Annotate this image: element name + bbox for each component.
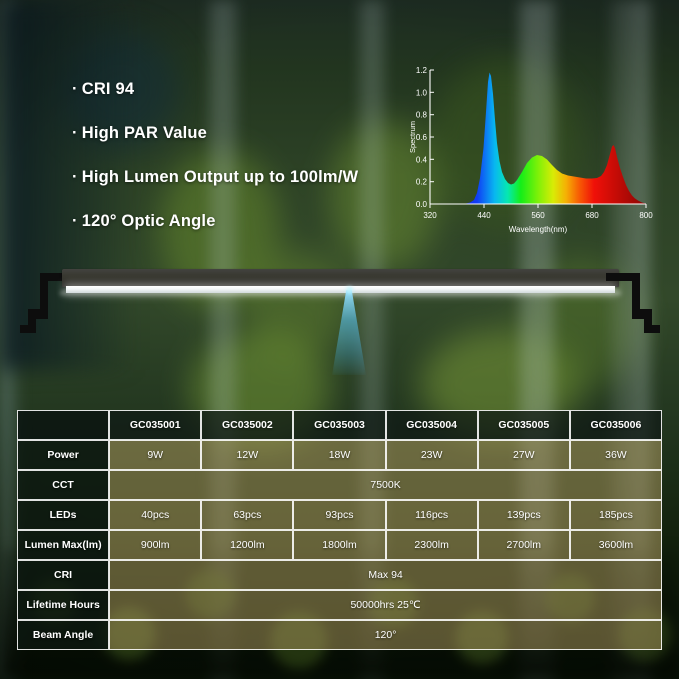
feature-list: ·CRI 94 ·High PAR Value ·High Lumen Outp…: [72, 80, 402, 256]
x-tick-label: 320: [423, 211, 437, 220]
row-label: CCT: [17, 470, 109, 500]
feature-item: ·High PAR Value: [72, 124, 402, 143]
row-label: Lumen Max(lm): [17, 530, 109, 560]
led-light-bar: [0, 255, 679, 365]
table-cell: 1200lm: [201, 530, 293, 560]
bullet-icon: ·: [72, 212, 78, 230]
spectrum-chart: 0.0 0.2 0.4 0.6 0.8 1.0 1.2 320 440 560: [404, 62, 654, 237]
table-cell: 139pcs: [478, 500, 570, 530]
row-label: Beam Angle: [17, 620, 109, 650]
table-header-cell: GC035005: [478, 410, 570, 440]
table-cell: 93pcs: [293, 500, 385, 530]
feature-item: ·CRI 94: [72, 80, 402, 99]
feature-text: High PAR Value: [82, 124, 207, 142]
x-tick-label: 560: [531, 211, 545, 220]
bullet-icon: ·: [72, 124, 78, 142]
x-axis-label: Wavelength(nm): [509, 225, 568, 234]
feature-item: ·High Lumen Output up to 100lm/W: [72, 168, 402, 187]
table-cell: 23W: [386, 440, 478, 470]
row-label: CRI: [17, 560, 109, 590]
table-header-cell: GC035002: [201, 410, 293, 440]
feature-item: ·120° Optic Angle: [72, 212, 402, 231]
table-header-row: GC035001 GC035002 GC035003 GC035004 GC03…: [17, 410, 662, 440]
table-cell: 3600lm: [570, 530, 662, 560]
y-tick-label: 1.2: [416, 66, 428, 75]
y-tick-label: 0.6: [416, 133, 428, 142]
table-row: Lumen Max(lm) 900lm 1200lm 1800lm 2300lm…: [17, 530, 662, 560]
table-header-cell: GC035001: [109, 410, 201, 440]
mounting-bracket-right-icon: [600, 269, 662, 341]
table-cell: 185pcs: [570, 500, 662, 530]
feature-text: High Lumen Output up to 100lm/W: [82, 168, 359, 186]
light-beam-source: [343, 285, 356, 295]
table-cell: 2700lm: [478, 530, 570, 560]
x-tick-label: 680: [585, 211, 599, 220]
table-cell-merged: 120°: [109, 620, 662, 650]
spectrum-curve-fill: [430, 73, 646, 205]
table-cell: 63pcs: [201, 500, 293, 530]
table-row: LEDs 40pcs 63pcs 93pcs 116pcs 139pcs 185…: [17, 500, 662, 530]
table-row: CRI Max 94: [17, 560, 662, 590]
table-row: Beam Angle 120°: [17, 620, 662, 650]
x-axis-tick-labels: 320 440 560 680 800: [423, 211, 653, 220]
table-header-blank: [17, 410, 109, 440]
row-label: Lifetime Hours: [17, 590, 109, 620]
y-axis-label: Spectrum: [408, 121, 417, 153]
spectrum-area: [430, 73, 646, 205]
light-beam: [332, 290, 366, 375]
table-cell: 12W: [201, 440, 293, 470]
specification-table: GC035001 GC035002 GC035003 GC035004 GC03…: [17, 410, 662, 650]
y-tick-label: 1.0: [416, 88, 428, 97]
table-row: Lifetime Hours 50000hrs 25℃: [17, 590, 662, 620]
light-bar-lens: [66, 286, 615, 293]
feature-text: CRI 94: [82, 80, 135, 98]
table-cell: 900lm: [109, 530, 201, 560]
feature-text: 120° Optic Angle: [82, 212, 216, 230]
x-tick-label: 800: [639, 211, 653, 220]
table-header-cell: GC035006: [570, 410, 662, 440]
bullet-icon: ·: [72, 168, 78, 186]
y-tick-label: 0.4: [416, 155, 428, 164]
table-cell: 36W: [570, 440, 662, 470]
spectrum-chart-svg: 0.0 0.2 0.4 0.6 0.8 1.0 1.2 320 440 560: [404, 62, 654, 237]
table-row: CCT 7500K: [17, 470, 662, 500]
row-label: Power: [17, 440, 109, 470]
y-axis-tick-labels: 0.0 0.2 0.4 0.6 0.8 1.0 1.2: [416, 66, 428, 209]
x-axis-ticks: [430, 204, 646, 208]
y-tick-label: 0.8: [416, 111, 428, 120]
table-cell: 27W: [478, 440, 570, 470]
y-tick-label: 0.0: [416, 200, 428, 209]
table-cell-merged: Max 94: [109, 560, 662, 590]
x-tick-label: 440: [477, 211, 491, 220]
table-cell: 2300lm: [386, 530, 478, 560]
row-label: LEDs: [17, 500, 109, 530]
table-header-cell: GC035003: [293, 410, 385, 440]
product-marketing-image: ·CRI 94 ·High PAR Value ·High Lumen Outp…: [0, 0, 679, 679]
table-cell: 116pcs: [386, 500, 478, 530]
table-cell: 40pcs: [109, 500, 201, 530]
y-axis-ticks: [430, 70, 434, 204]
light-bar-housing: [62, 269, 619, 287]
table-row: Power 9W 12W 18W 23W 27W 36W: [17, 440, 662, 470]
table-header-cell: GC035004: [386, 410, 478, 440]
table-cell-merged: 50000hrs 25℃: [109, 590, 662, 620]
table-cell: 1800lm: [293, 530, 385, 560]
y-tick-label: 0.2: [416, 178, 428, 187]
bullet-icon: ·: [72, 80, 78, 98]
table-cell: 9W: [109, 440, 201, 470]
table-cell-merged: 7500K: [109, 470, 662, 500]
table-cell: 18W: [293, 440, 385, 470]
